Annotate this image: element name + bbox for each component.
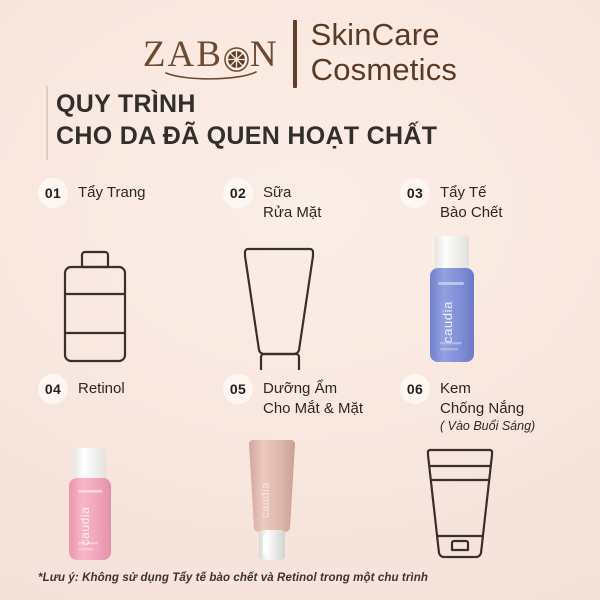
headline-line-2: CHO DA ĐÃ QUEN HOẠT CHẤT bbox=[56, 120, 437, 152]
poster-canvas: ZAB bbox=[0, 0, 600, 600]
logo-divider bbox=[293, 20, 297, 88]
step-card-03: 03 Tẩy Tế Bào Chết bbox=[400, 178, 600, 222]
tagline-line-2: Cosmetics bbox=[311, 52, 458, 87]
step-label: Kem Chống Nắng bbox=[440, 374, 535, 418]
svg-text:caudia: caudia bbox=[260, 482, 272, 518]
step-card-06: 06 Kem Chống Nắng ( Vào Buổi Sáng) bbox=[400, 374, 600, 434]
brand-header: ZAB bbox=[0, 14, 600, 88]
zabon-logo: ZAB bbox=[143, 20, 279, 82]
step-label: Dưỡng Ẩm Cho Mắt & Mặt bbox=[263, 374, 363, 418]
routine-step-grid: 01 Tẩy Trang 02 bbox=[0, 178, 600, 570]
step-header: 01 Tẩy Trang bbox=[38, 178, 238, 208]
step-header: 06 Kem Chống Nắng ( Vào Buổi Sáng) bbox=[400, 374, 600, 434]
step-header: 03 Tẩy Tế Bào Chết bbox=[400, 178, 600, 222]
bottle-outline-icon bbox=[38, 230, 238, 370]
step-label: Tẩy Trang bbox=[78, 178, 146, 203]
step-number-badge: 03 bbox=[400, 178, 430, 208]
tagline-line-1: SkinCare bbox=[311, 17, 458, 52]
sunscreen-tube-outline-icon bbox=[400, 440, 600, 580]
step-number-badge: 06 bbox=[400, 374, 430, 404]
zabon-text-post: N bbox=[250, 36, 279, 73]
step-label-group: Kem Chống Nắng ( Vào Buổi Sáng) bbox=[440, 374, 535, 434]
step-number-badge: 04 bbox=[38, 374, 68, 404]
step-header: 02 Sữa Rửa Mặt bbox=[223, 178, 423, 222]
routine-row-top: 01 Tẩy Trang 02 bbox=[0, 178, 600, 374]
step-header: 05 Dưỡng Ẩm Cho Mắt & Mặt bbox=[223, 374, 423, 418]
step-label: Sữa Rửa Mặt bbox=[263, 178, 321, 222]
step-number-badge: 02 bbox=[223, 178, 253, 208]
step-note: ( Vào Buổi Sáng) bbox=[440, 418, 535, 434]
brand-tagline: SkinCare Cosmetics bbox=[311, 15, 458, 87]
footnote-warning: *Lưu ý: Không sử dụng Tẩy tế bào chết và… bbox=[38, 572, 428, 584]
cleanser-tube-outline-icon bbox=[223, 230, 423, 370]
svg-text:caudia: caudia bbox=[78, 507, 92, 546]
headline-line-1: QUY TRÌNH bbox=[56, 88, 437, 120]
zabon-wordmark: ZAB bbox=[143, 36, 279, 73]
step-label: Tẩy Tế Bào Chết bbox=[440, 178, 503, 222]
step-number-badge: 05 bbox=[223, 374, 253, 404]
headline-accent-rule bbox=[46, 86, 48, 160]
step-card-01: 01 Tẩy Trang bbox=[38, 178, 238, 208]
step-number-badge: 01 bbox=[38, 178, 68, 208]
step-card-05: 05 Dưỡng Ẩm Cho Mắt & Mặt bbox=[223, 374, 423, 418]
step-card-04: 04 Retinol bbox=[38, 374, 238, 404]
step-header: 04 Retinol bbox=[38, 374, 238, 404]
step-card-02: 02 Sữa Rửa Mặt bbox=[223, 178, 423, 222]
pink-retinol-bottle-photo: caudia bbox=[38, 426, 238, 566]
svg-text:caudia: caudia bbox=[440, 301, 455, 343]
nude-moisturizer-tube-photo: caudia bbox=[223, 426, 423, 566]
page-title: QUY TRÌNH CHO DA ĐÃ QUEN HOẠT CHẤT bbox=[56, 88, 437, 152]
citrus-slice-icon bbox=[224, 42, 249, 67]
zabon-text-pre: ZAB bbox=[143, 36, 223, 73]
blue-exfoliant-bottle-photo: caudia bbox=[400, 230, 600, 370]
step-label: Retinol bbox=[78, 374, 125, 399]
routine-row-bottom: 04 Retinol bbox=[0, 374, 600, 570]
